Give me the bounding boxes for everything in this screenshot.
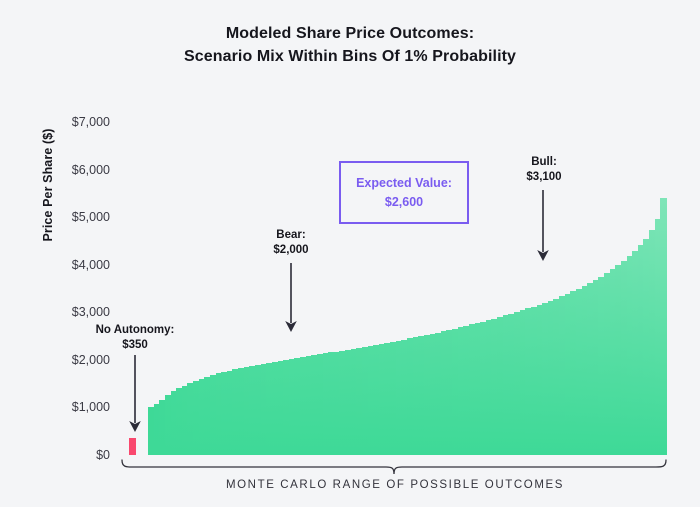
title-line-1: Modeled Share Price Outcomes: (0, 22, 700, 45)
y-axis-tick-label: $6,000 (40, 163, 110, 177)
y-axis-tick-label: $1,000 (40, 400, 110, 414)
expected-value-callout: Expected Value: $2,600 (339, 161, 469, 224)
page-title: Modeled Share Price Outcomes: Scenario M… (0, 22, 700, 68)
y-axis-tick-labels: $7,000$6,000$5,000$4,000$3,000$2,000$1,0… (40, 122, 110, 455)
annotation-bull-line-1: Bull: (494, 155, 594, 170)
bar-no-autonomy (129, 438, 136, 455)
y-axis-tick-label: $3,000 (40, 305, 110, 319)
y-axis-tick-label: $7,000 (40, 115, 110, 129)
annotation-arrow-no-autonomy (126, 355, 144, 433)
annotation-no-autonomy: No Autonomy: $350 (75, 323, 195, 353)
x-axis-brace-icon (120, 459, 668, 475)
y-axis-tick-label: $0 (40, 448, 110, 462)
annotation-arrow-bull (534, 190, 552, 262)
annotation-bull-line-2: $3,100 (494, 170, 594, 185)
annotation-arrow-bear (282, 263, 300, 333)
y-axis-tick-label: $5,000 (40, 210, 110, 224)
expected-value-line-1: Expected Value: (356, 174, 452, 193)
annotation-no-autonomy-line-2: $350 (75, 338, 195, 353)
annotation-bear-line-2: $2,000 (241, 243, 341, 258)
annotation-bear-line-1: Bear: (241, 228, 341, 243)
y-axis-tick-label: $2,000 (40, 353, 110, 367)
expected-value-line-2: $2,600 (385, 193, 423, 212)
y-axis-tick-label: $4,000 (40, 258, 110, 272)
x-axis-label: MONTE CARLO RANGE OF POSSIBLE OUTCOMES (100, 479, 690, 491)
bar-outcome (660, 198, 666, 455)
annotation-bear: Bear: $2,000 (241, 228, 341, 258)
title-line-2: Scenario Mix Within Bins Of 1% Probabili… (0, 45, 700, 68)
annotation-bull: Bull: $3,100 (494, 155, 594, 185)
annotation-no-autonomy-line-1: No Autonomy: (75, 323, 195, 338)
